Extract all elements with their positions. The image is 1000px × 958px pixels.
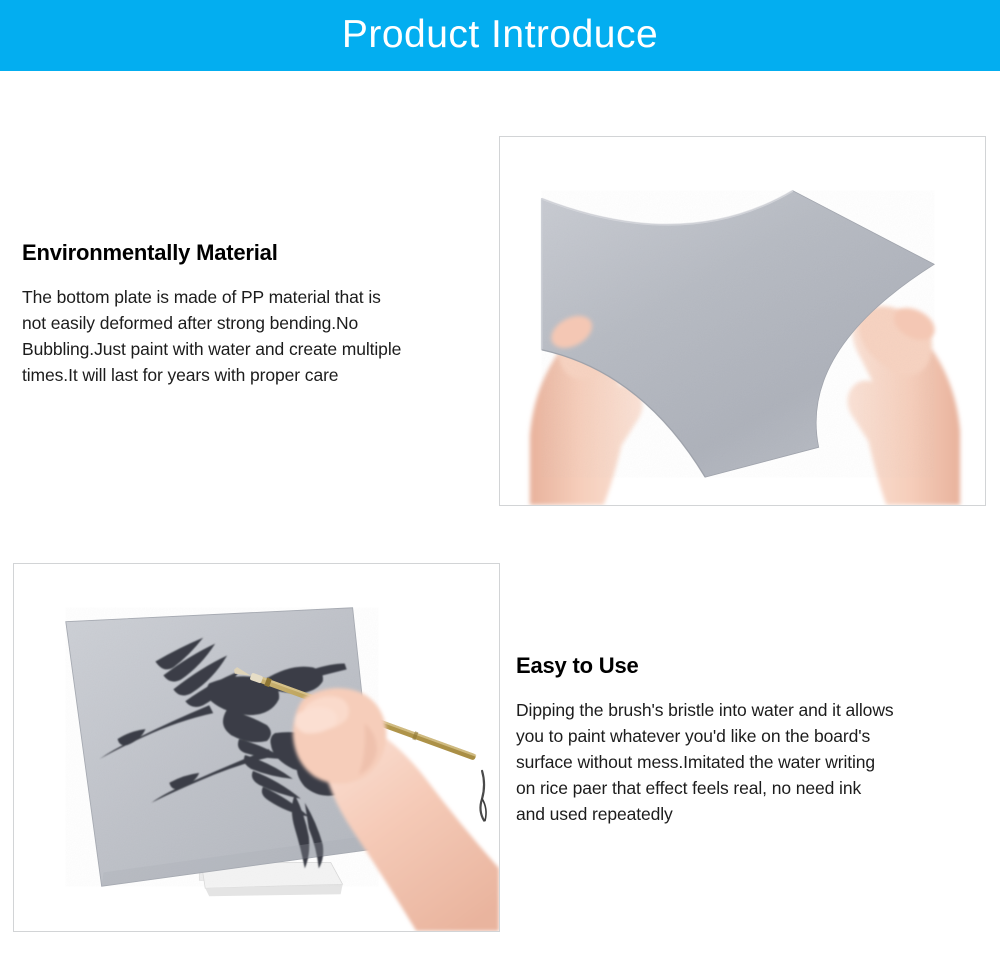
section-heading-environmentally-material: Environmentally Material (22, 240, 452, 266)
page-title: Product Introduce (342, 15, 658, 57)
body-line: not easily deformed after strong bending… (22, 310, 452, 336)
body-line: you to paint whatever you'd like on the … (516, 723, 956, 749)
board-bending-illustration (500, 137, 985, 505)
body-line: Bubbling.Just paint with water and creat… (22, 336, 452, 362)
section-body-easy-to-use: Dipping the brush's bristle into water a… (516, 697, 956, 827)
section-body-environmentally-material: The bottom plate is made of PP material … (22, 284, 452, 388)
section-environmentally-material: Environmentally Material The bottom plat… (22, 240, 452, 388)
body-line: The bottom plate is made of PP material … (22, 284, 452, 310)
photo-board-bending (499, 136, 986, 506)
body-line: on rice paer that effect feels real, no … (516, 775, 956, 801)
section-heading-easy-to-use: Easy to Use (516, 653, 956, 679)
body-line: surface without mess.Imitated the water … (516, 749, 956, 775)
body-line: times.It will last for years with proper… (22, 362, 452, 388)
body-line: and used repeatedly (516, 801, 956, 827)
photo-board-painting (13, 563, 500, 932)
section-easy-to-use: Easy to Use Dipping the brush's bristle … (516, 653, 956, 827)
body-line: Dipping the brush's bristle into water a… (516, 697, 956, 723)
board-painting-illustration (14, 564, 499, 931)
page-header: Product Introduce (0, 0, 1000, 71)
